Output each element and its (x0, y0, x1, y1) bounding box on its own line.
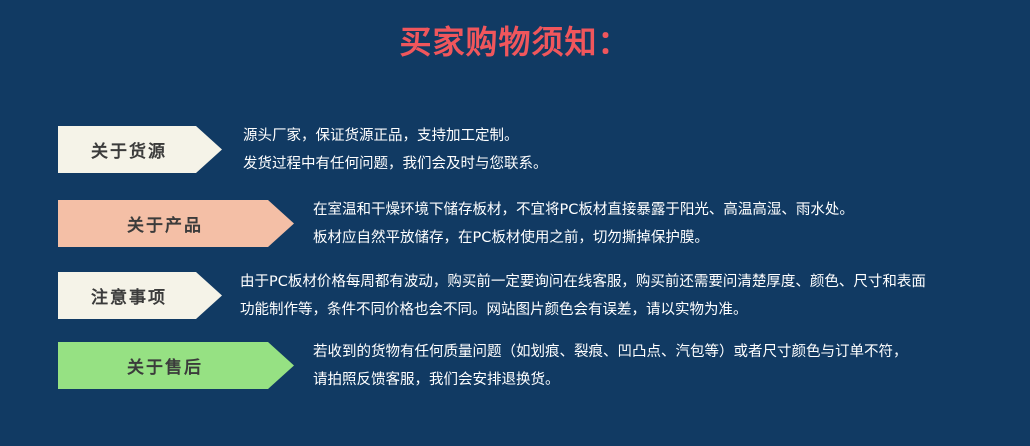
section-tag-label: 关于货源 (91, 137, 167, 162)
section-tag-label: 注意事项 (91, 283, 167, 308)
description-line: 板材应自然平放储存，在PC板材使用之前，切勿撕掉保护膜。 (313, 224, 854, 252)
section-tag-label: 关于售后 (127, 353, 203, 378)
description-line: 功能制作等，条件不同价格也会不同。网站图片颜色会有误差，请以实物为准。 (240, 296, 926, 324)
section-description-attention: 由于PC板材价格每周都有波动，购买前一定要询问在线客服，购买前还需要问清楚厚度、… (240, 268, 926, 324)
description-line: 若收到的货物有任何质量问题（如划痕、裂痕、凹凸点、汽包等）或者尺寸颜色与订单不符… (313, 338, 908, 366)
section-description-source: 源头厂家，保证货源正品，支持加工定制。 发货过程中有任何问题，我们会及时与您联系… (243, 122, 548, 178)
description-line: 源头厂家，保证货源正品，支持加工定制。 (243, 122, 548, 150)
description-line: 请拍照反馈客服，我们会安排退换货。 (313, 366, 908, 394)
section-tag-source: 关于货源 (58, 126, 222, 173)
section-tag-aftersales: 关于售后 (58, 342, 294, 389)
notice-section-aftersales: 关于售后 若收到的货物有任何质量问题（如划痕、裂痕、凹凸点、汽包等）或者尺寸颜色… (0, 334, 1030, 410)
section-description-product: 在室温和干燥环境下储存板材，不宜将PC板材直接暴露于阳光、高温高湿、雨水处。 板… (313, 196, 854, 252)
notice-section-product: 关于产品 在室温和干燥环境下储存板材，不宜将PC板材直接暴露于阳光、高温高湿、雨… (0, 192, 1030, 268)
notice-section-attention: 注意事项 由于PC板材价格每周都有波动，购买前一定要询问在线客服，购买前还需要问… (0, 264, 1030, 340)
section-tag-attention: 注意事项 (58, 272, 222, 319)
description-line: 发货过程中有任何问题，我们会及时与您联系。 (243, 150, 548, 178)
buyer-notice-banner: 买家购物须知： 关于货源 源头厂家，保证货源正品，支持加工定制。 发货过程中有任… (0, 0, 1030, 446)
description-line: 在室温和干燥环境下储存板材，不宜将PC板材直接暴露于阳光、高温高湿、雨水处。 (313, 196, 854, 224)
section-tag-label: 关于产品 (127, 211, 203, 236)
section-tag-product: 关于产品 (58, 200, 294, 247)
description-line: 由于PC板材价格每周都有波动，购买前一定要询问在线客服，购买前还需要问清楚厚度、… (240, 268, 926, 296)
notice-section-source: 关于货源 源头厂家，保证货源正品，支持加工定制。 发货过程中有任何问题，我们会及… (0, 118, 1030, 194)
section-description-aftersales: 若收到的货物有任何质量问题（如划痕、裂痕、凹凸点、汽包等）或者尺寸颜色与订单不符… (313, 338, 908, 394)
page-title: 买家购物须知： (0, 20, 1030, 64)
